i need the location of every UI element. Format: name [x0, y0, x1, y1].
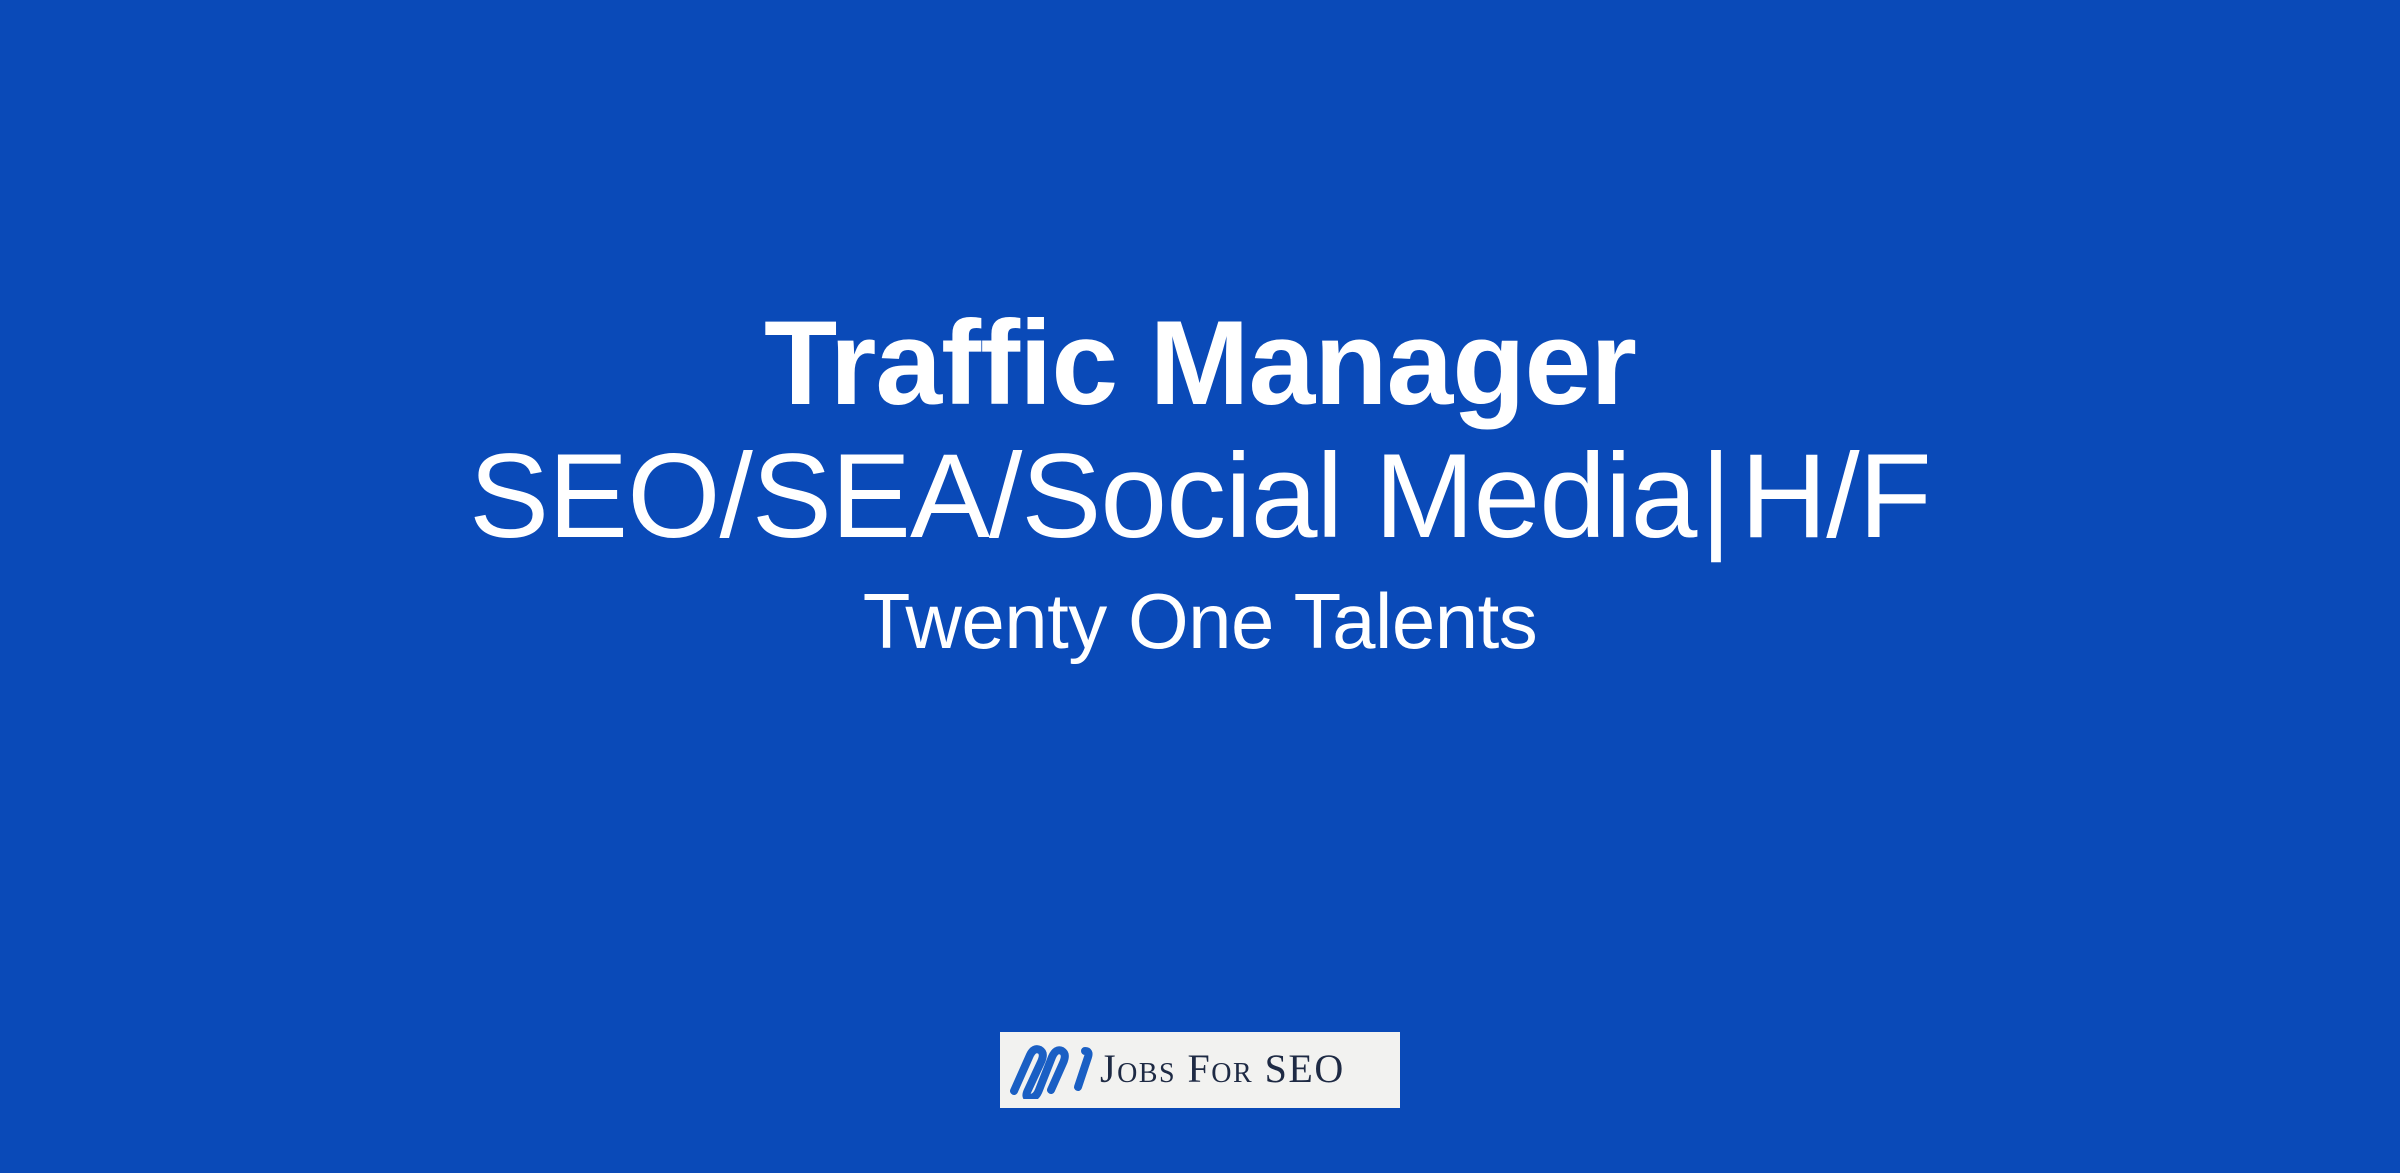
brand-wordmark: Jobs For SEO: [1100, 1049, 1345, 1091]
job-posting-card: Traffic Manager SEO/SEA/Social Media|H/F…: [0, 0, 2400, 1173]
brand-badge: Jobs For SEO: [1000, 1032, 1400, 1108]
squiggle-wave-logo-icon: [1008, 1041, 1094, 1099]
headline-block: Traffic Manager SEO/SEA/Social Media|H/F…: [0, 300, 2400, 666]
job-title-line-1: Traffic Manager: [0, 300, 2400, 427]
job-title-separator: |: [1696, 429, 1740, 563]
job-title-line-2: SEO/SEA/Social Media|H/F: [0, 433, 2400, 560]
company-name: Twenty One Talents: [0, 578, 2400, 665]
job-title-specialties: SEO/SEA/Social Media: [469, 429, 1696, 563]
job-title-gender-tag: H/F: [1741, 429, 1931, 563]
